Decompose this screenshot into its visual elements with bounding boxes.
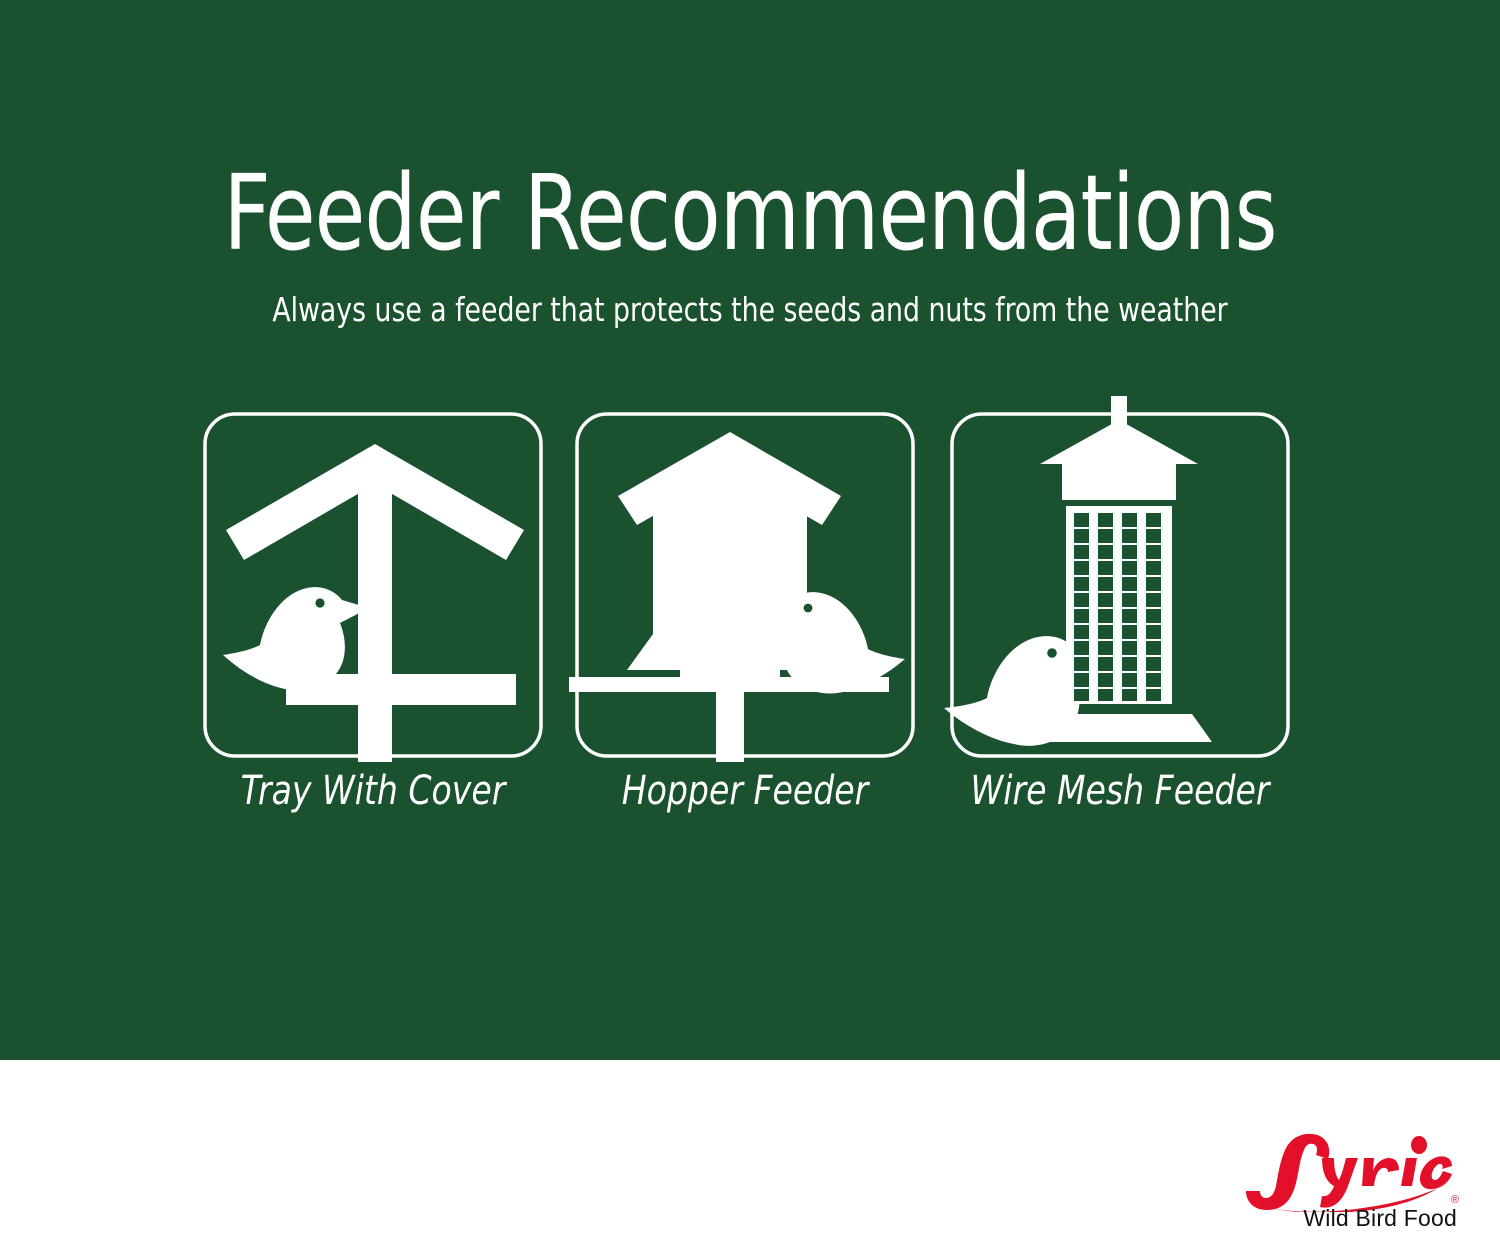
wire-mesh-feeder-icon <box>950 412 1290 758</box>
feeder-card[interactable]: Wire Mesh Feeder <box>950 400 1300 840</box>
feeder-label: Hopper Feeder <box>589 768 902 814</box>
page-title: Feeder Recommendations <box>90 160 1410 266</box>
feeder-card[interactable]: Tray With Cover <box>203 400 553 840</box>
feeder-label: Tray With Cover <box>217 768 530 814</box>
logo-tagline: Wild Bird Food <box>1303 1205 1457 1232</box>
green-poster-panel: Feeder Recommendations Always use a feed… <box>0 0 1500 1060</box>
feeder-recommendation-row: Tray With Cover <box>190 400 1320 840</box>
hopper-feeder-icon <box>575 412 915 758</box>
lyric-wordmark <box>1238 1128 1460 1212</box>
tray-with-cover-icon <box>203 412 543 758</box>
feeder-label: Wire Mesh Feeder <box>964 768 1277 814</box>
feeder-card[interactable]: Hopper Feeder <box>575 400 925 840</box>
headline-block: Feeder Recommendations Always use a feed… <box>0 160 1500 328</box>
brand-logo: ® Wild Bird Food <box>1238 1128 1460 1236</box>
page-subtitle: Always use a feeder that protects the se… <box>75 292 1425 328</box>
